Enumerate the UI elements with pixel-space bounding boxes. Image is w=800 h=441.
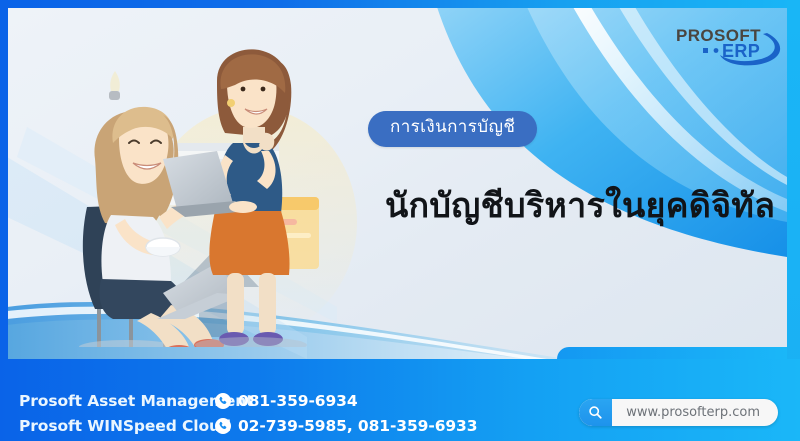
contact-phone[interactable]: 02-739-5985, 081-359-6933 [215,417,477,435]
phone-icon [215,418,231,434]
contact-product-label: Prosoft WINSpeed Cloud [19,417,215,435]
contact-list: Prosoft Asset Management 081-359-6934 Pr… [19,388,459,438]
search-icon [588,405,603,420]
page-title: นักบัญชีบริหารในยุคดิจิทัล [385,185,775,228]
phone-number: 02-739-5985, 081-359-6933 [238,417,477,435]
search-url-text[interactable]: www.prosofterp.com [612,405,778,420]
logo-square-icon [703,48,708,53]
top-border-strip [0,0,800,8]
category-badge: การเงินการบัญชี [368,111,537,147]
phone-number: 081-359-6934 [238,392,358,410]
footer-notch [557,347,787,359]
contact-row: Prosoft WINSpeed Cloud 02-739-5985, 081-… [19,413,459,438]
logo-product-text: ERP [722,41,760,61]
contact-product-label: Prosoft Asset Management [19,392,215,410]
contact-row: Prosoft Asset Management 081-359-6934 [19,388,459,413]
contact-phone[interactable]: 081-359-6934 [215,392,358,410]
promo-banner: การเงินการบัญชี นักบัญชีบริหารในยุคดิจิท… [0,0,800,441]
lightbulb-icon [109,71,120,100]
two-women-accountants-illustration [67,47,357,347]
prosoft-erp-logo[interactable]: PROSOFT ERP [675,21,787,71]
banner-canvas: การเงินการบัญชี นักบัญชีบริหารในยุคดิจิท… [7,7,787,359]
logo-dot-icon [714,48,719,53]
website-search-bar[interactable]: www.prosofterp.com [579,399,778,426]
phone-icon [215,393,231,409]
search-button[interactable] [579,399,612,426]
